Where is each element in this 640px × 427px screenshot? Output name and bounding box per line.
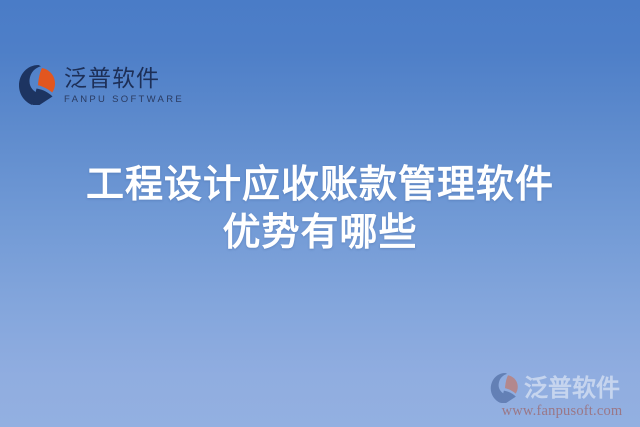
brand-name-en: FANPU SOFTWARE [64, 93, 184, 106]
watermark-brand-name: 泛普软件 [524, 374, 620, 402]
brand-logo: 泛普软件 FANPU SOFTWARE [18, 64, 184, 106]
watermark-lockup: 泛普软件 [490, 372, 632, 404]
brand-text: 泛普软件 FANPU SOFTWARE [64, 64, 184, 106]
watermark-url: www.fanpusoft.com [490, 403, 632, 419]
fanpu-logo-icon [490, 372, 520, 404]
watermark: 泛普软件 www.fanpusoft.com [490, 372, 632, 419]
page-title-line-1: 工程设计应收账款管理软件 [0, 160, 640, 208]
fanpu-logo-icon [18, 64, 58, 106]
page-title-line-2: 优势有哪些 [0, 208, 640, 256]
page-title: 工程设计应收账款管理软件 优势有哪些 [0, 160, 640, 256]
brand-name-cn: 泛普软件 [64, 66, 184, 92]
promo-banner: 泛普软件 FANPU SOFTWARE 工程设计应收账款管理软件 优势有哪些 泛… [0, 0, 640, 427]
